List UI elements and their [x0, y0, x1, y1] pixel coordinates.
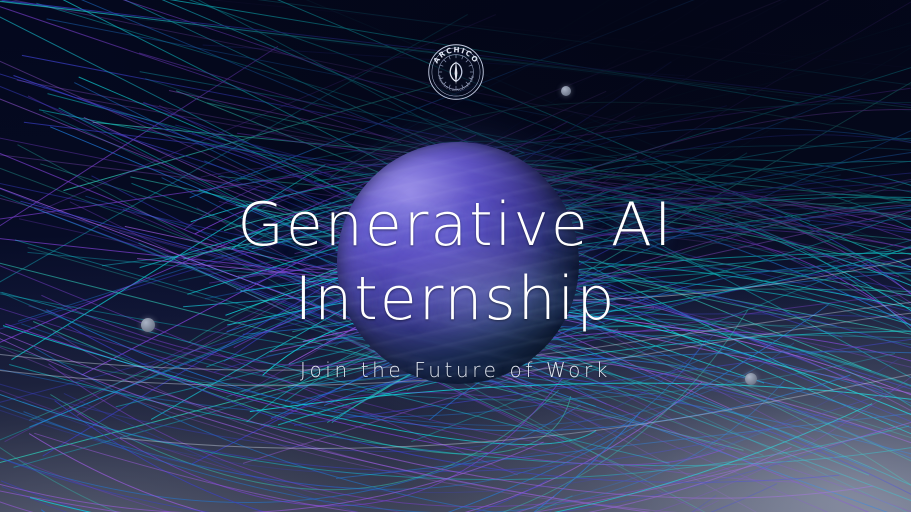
hero-text-block: Generative AI Internship Join the Future… [0, 188, 911, 382]
orbit-dot-right-top [561, 86, 571, 96]
page-title: Generative AI Internship [0, 188, 911, 336]
page-subtitle: Join the Future of Work [0, 358, 911, 382]
headline-line-2: Internship [0, 262, 911, 336]
headline-line-1: Generative AI [0, 188, 911, 262]
slide-root: ARCHICO ARCHICO CONSULTING LTD Generativ… [0, 0, 911, 512]
archico-emblem: ARCHICO ARCHICO CONSULTING LTD [427, 43, 485, 101]
